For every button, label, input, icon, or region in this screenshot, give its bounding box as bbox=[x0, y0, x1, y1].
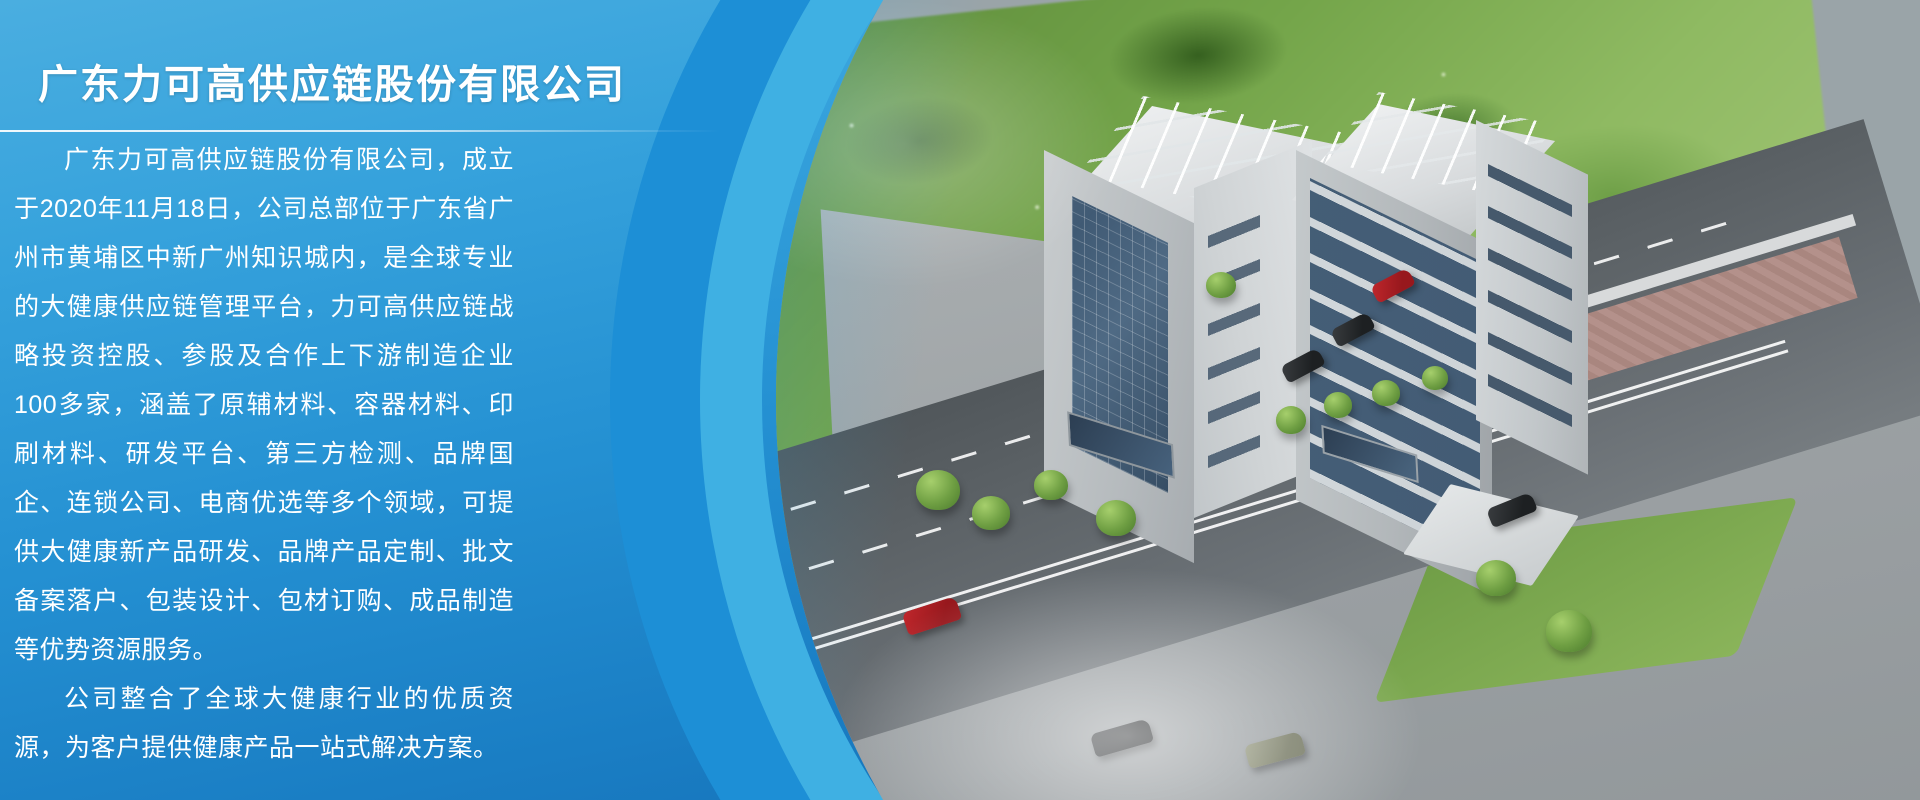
company-description-paragraph-2: 公司整合了全球大健康行业的优质资源，为客户提供健康产品一站式解决方案。 bbox=[14, 675, 514, 773]
aerial-rendering-scene bbox=[776, 0, 1920, 800]
company-description: 广东力可高供应链股份有限公司，成立于2020年11月18日，公司总部位于广东省广… bbox=[14, 136, 514, 773]
hill-tree bbox=[1206, 272, 1236, 298]
building-photo-disc bbox=[776, 0, 1920, 800]
page-title: 广东力可高供应链股份有限公司 bbox=[38, 52, 626, 110]
building-3-windows bbox=[1488, 150, 1572, 441]
courtyard-tree bbox=[1276, 406, 1306, 434]
building-photo bbox=[776, 0, 1920, 800]
street-tree bbox=[972, 496, 1010, 530]
courtyard-tree bbox=[1372, 380, 1400, 406]
company-profile-banner: 广东力可高供应链股份有限公司 广东力可高供应链股份有限公司，成立于2020年11… bbox=[0, 0, 1920, 800]
street-tree bbox=[916, 470, 960, 510]
title-divider bbox=[0, 130, 720, 132]
building-1-window-slits bbox=[1208, 195, 1260, 484]
street-tree bbox=[1096, 500, 1136, 536]
courtyard-tree bbox=[1422, 366, 1448, 390]
company-description-paragraph-1: 广东力可高供应链股份有限公司，成立于2020年11月18日，公司总部位于广东省广… bbox=[14, 136, 514, 675]
roadside-tree bbox=[1546, 610, 1592, 652]
courtyard-tree bbox=[1324, 392, 1352, 418]
roadside-tree bbox=[1476, 560, 1516, 596]
street-tree bbox=[1034, 470, 1068, 500]
